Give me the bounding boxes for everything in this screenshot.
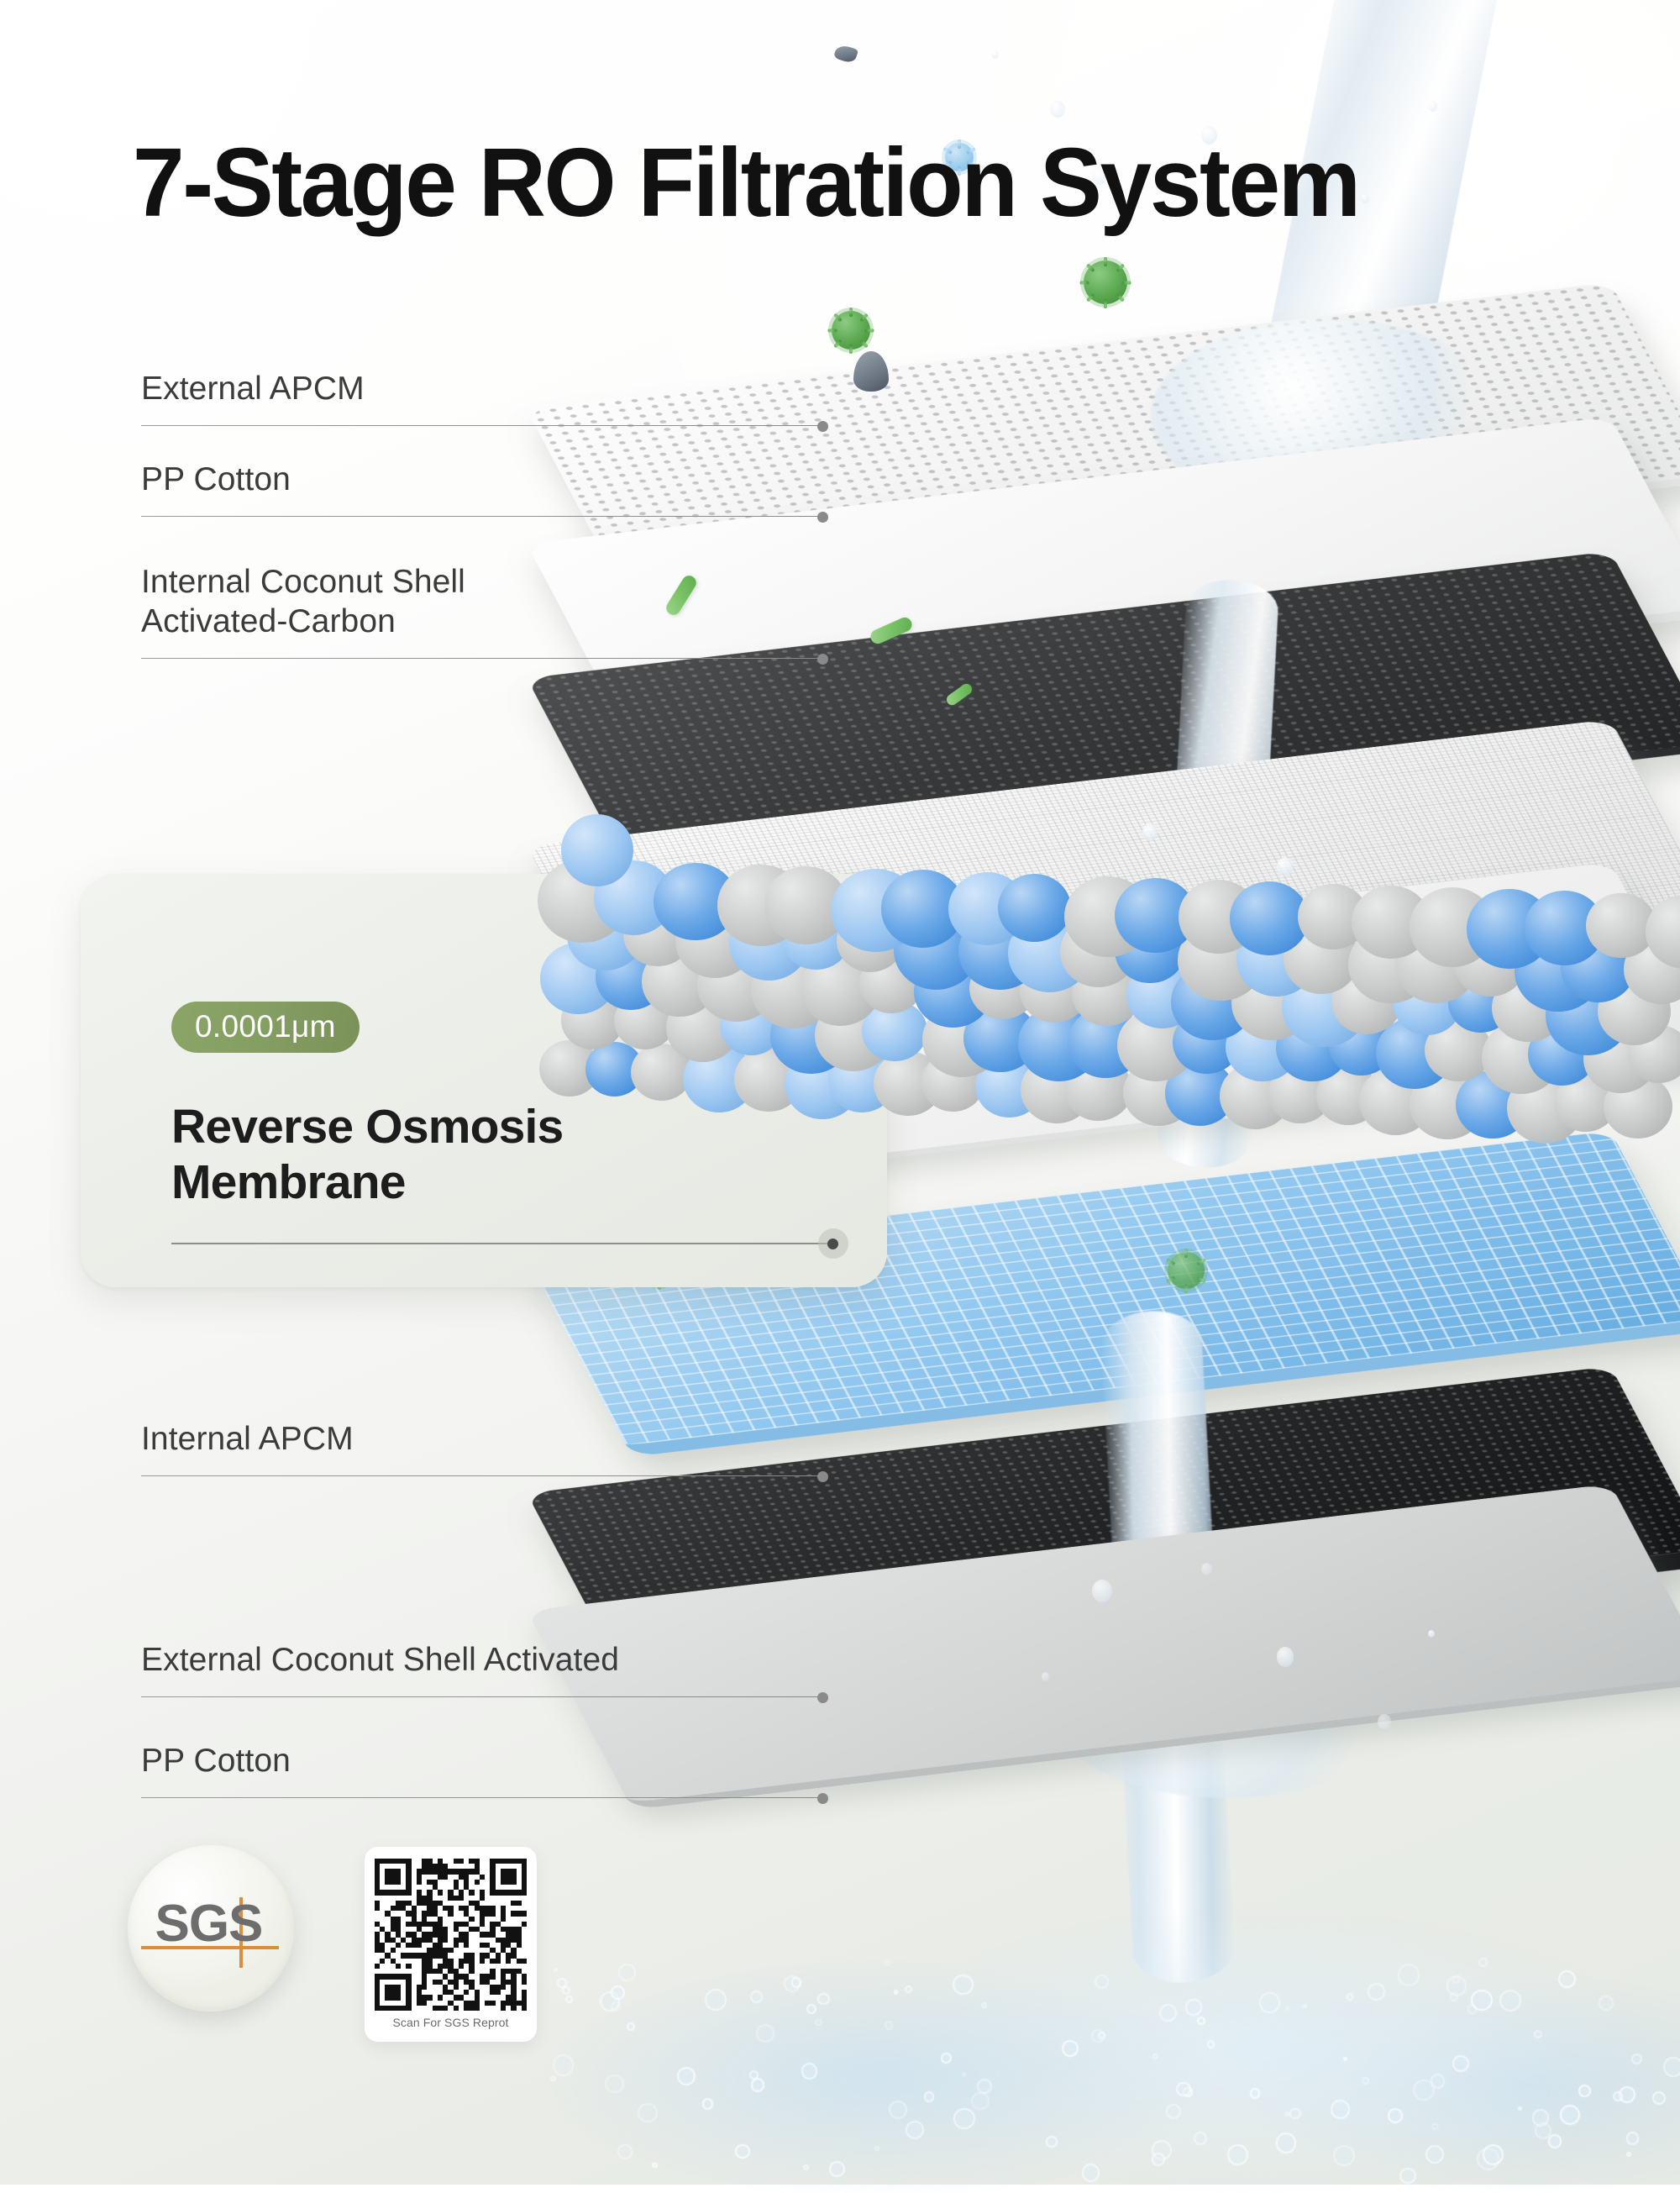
water-bubble-icon xyxy=(953,1975,974,1996)
water-bubble-icon xyxy=(652,2163,658,2169)
label-text: PP Cotton xyxy=(141,1742,823,1781)
water-bubble-icon xyxy=(1276,2133,1296,2153)
water-droplet-icon xyxy=(1092,1580,1112,1602)
water-bubble-icon xyxy=(1207,2040,1215,2048)
water-bubble-icon xyxy=(1413,2080,1434,2101)
water-bubble-icon xyxy=(1331,2100,1350,2119)
water-bubble-icon xyxy=(1176,2082,1191,2097)
water-bubble-icon xyxy=(1663,2057,1680,2077)
water-bubble-icon xyxy=(1398,1964,1420,1985)
water-bubble-icon xyxy=(611,2001,621,2012)
water-bubble-icon xyxy=(1166,2104,1181,2119)
water-droplet-icon xyxy=(1277,1647,1294,1667)
leader-line xyxy=(141,421,823,431)
water-bubble-icon xyxy=(750,1991,763,2003)
water-bubble-icon xyxy=(638,2103,658,2123)
water-bubble-icon xyxy=(874,2146,879,2151)
water-bubble-icon xyxy=(1343,2057,1347,2061)
water-splash-bottom xyxy=(521,1907,1680,2193)
virus-icon xyxy=(832,311,870,350)
water-bubble-icon xyxy=(1303,2004,1307,2008)
water-bubble-icon xyxy=(756,2024,774,2042)
water-bubble-icon xyxy=(1259,1992,1280,2013)
pore-size-badge: 0.0001μm xyxy=(171,1002,360,1053)
label-pp-cotton-top: PP Cotton xyxy=(141,460,823,522)
water-bubble-icon xyxy=(1499,1990,1521,2012)
water-bubble-icon xyxy=(1159,2004,1177,2022)
water-bubble-icon xyxy=(803,2164,809,2170)
water-bubble-icon xyxy=(1284,2111,1289,2117)
water-bubble-icon xyxy=(1548,2134,1562,2148)
leader-dot-icon xyxy=(827,1238,838,1249)
water-bubble-icon xyxy=(1152,2054,1158,2059)
water-droplet-icon xyxy=(1378,1714,1391,1729)
water-bubble-icon xyxy=(1285,2006,1289,2011)
water-droplet-icon xyxy=(1042,1672,1049,1681)
water-bubble-icon xyxy=(885,2021,893,2029)
water-bubble-icon xyxy=(1631,2054,1642,2064)
leader-line xyxy=(141,1692,823,1702)
water-bubble-icon xyxy=(1483,2144,1504,2166)
label-text: PP Cotton xyxy=(141,460,823,500)
water-droplet-icon xyxy=(1201,1563,1212,1575)
water-bubble-icon xyxy=(617,2144,633,2159)
water-bubble-icon xyxy=(1534,2030,1542,2038)
water-bubble-icon xyxy=(962,2072,966,2076)
label-internal-apcm: Internal APCM xyxy=(141,1420,823,1481)
water-bubble-icon xyxy=(1578,2085,1591,2097)
water-bubble-icon xyxy=(1362,2077,1369,2085)
leader-line xyxy=(141,1471,823,1481)
water-bubble-icon xyxy=(1194,2132,1207,2145)
water-bubble-icon xyxy=(1289,2108,1301,2120)
leader-dot-icon xyxy=(817,1471,828,1482)
water-bubble-icon xyxy=(702,2098,713,2109)
water-bubble-icon xyxy=(1558,1970,1576,1988)
water-bubble-icon xyxy=(806,2004,816,2014)
water-bubble-icon xyxy=(1388,2108,1403,2123)
water-bubble-icon xyxy=(1518,2106,1522,2111)
sgs-logo-text: SGS xyxy=(155,1898,262,1950)
water-bubble-icon xyxy=(1425,2145,1444,2164)
water-bubble-icon xyxy=(791,1977,801,1987)
qr-caption: Scan For SGS Reprot xyxy=(375,2016,527,2029)
water-bubble-icon xyxy=(1450,1992,1459,2001)
virus-icon xyxy=(1084,260,1127,304)
water-bubble-icon xyxy=(815,2019,822,2026)
label-text: External APCM xyxy=(141,370,823,409)
water-bubble-icon xyxy=(1399,2168,1415,2184)
water-bubble-icon xyxy=(553,2054,575,2076)
water-bubble-icon xyxy=(565,1996,573,2003)
water-bubble-icon xyxy=(677,2067,696,2085)
water-bubble-icon xyxy=(1626,2132,1639,2144)
water-bubble-icon xyxy=(749,2070,759,2080)
water-bubble-icon xyxy=(1333,2145,1355,2167)
label-text: External Coconut Shell Activated xyxy=(141,1641,823,1680)
water-bubble-icon xyxy=(1478,1958,1487,1966)
water-bubble-icon xyxy=(1626,2152,1631,2157)
water-bubble-icon xyxy=(1347,1993,1354,2001)
water-droplet-icon xyxy=(1428,101,1437,112)
leader-dot-icon xyxy=(817,421,828,432)
water-bubble-icon xyxy=(1062,2040,1079,2057)
water-bubble-icon xyxy=(1599,1996,1614,2011)
water-bubble-icon xyxy=(1368,1983,1385,2001)
water-droplet-icon xyxy=(1394,941,1414,963)
water-bubble-icon xyxy=(705,1989,727,2011)
water-bubble-icon xyxy=(941,2053,953,2064)
water-bubble-icon xyxy=(1095,1975,1109,1989)
water-bubble-icon xyxy=(953,2108,974,2129)
highlight-card-title: Reverse Osmosis Membrane xyxy=(171,1099,810,1210)
leader-line xyxy=(141,1793,823,1803)
water-bubble-icon xyxy=(1471,1990,1493,2012)
water-bubble-icon xyxy=(905,1985,912,1993)
label-internal-coconut-carbon: Internal Coconut Shell Activated-Carbon xyxy=(141,563,823,664)
water-bubble-icon xyxy=(735,2144,749,2159)
label-text: Internal APCM xyxy=(141,1420,823,1459)
label-text: Internal Coconut Shell Activated-Carbon xyxy=(141,563,823,642)
leader-line-highlight xyxy=(171,1233,837,1254)
water-bubble-icon xyxy=(1227,2144,1248,2165)
water-bubble-icon xyxy=(751,2078,764,2091)
leader-dot-icon xyxy=(817,1793,828,1804)
water-bubble-icon xyxy=(906,2121,924,2139)
leader-dot-icon xyxy=(817,654,828,665)
leader-dot-icon xyxy=(817,1692,828,1703)
water-bubble-icon xyxy=(605,2075,623,2093)
water-bubble-icon xyxy=(1431,2123,1438,2130)
water-bubble-icon xyxy=(1046,2136,1058,2148)
water-bubble-icon xyxy=(817,1993,829,2005)
leader-line xyxy=(141,512,823,522)
water-bubble-icon xyxy=(554,1968,559,1973)
water-bubble-icon xyxy=(1082,2164,1100,2182)
water-bubble-icon xyxy=(618,1964,636,1981)
water-bubble-icon xyxy=(1652,2091,1666,2105)
page-title: 7-Stage RO Filtration System xyxy=(133,126,1359,239)
water-bubble-icon xyxy=(550,2076,556,2082)
water-bubble-icon xyxy=(1185,1999,1201,2015)
highlight-card-reverse-osmosis[interactable]: 0.0001μm Reverse Osmosis Membrane xyxy=(81,874,887,1287)
label-external-apcm: External APCM xyxy=(141,370,823,431)
water-bubble-icon xyxy=(894,1990,899,1995)
water-bubble-icon xyxy=(981,2002,987,2008)
sgs-seal-icon: SGS xyxy=(128,1845,294,2012)
water-bubble-icon xyxy=(1197,2017,1205,2025)
water-bubble-icon xyxy=(829,2161,845,2177)
leader-line xyxy=(141,654,823,664)
water-bubble-icon xyxy=(884,1959,890,1966)
water-bubble-icon xyxy=(562,1986,570,1995)
water-bubble-icon xyxy=(971,2092,989,2110)
leader-dot-icon xyxy=(817,512,828,523)
water-bubble-icon xyxy=(1250,2088,1260,2098)
water-bubble-icon xyxy=(1452,2055,1469,2072)
water-bubble-icon xyxy=(889,2101,907,2119)
water-droplet-icon xyxy=(991,50,999,59)
qr-code-card[interactable]: Scan For SGS Reprot xyxy=(365,1847,537,2042)
water-bubble-icon xyxy=(627,2022,635,2031)
water-bubble-icon xyxy=(1560,2105,1580,2125)
filter-layer-illustration xyxy=(840,0,1680,2185)
water-bubble-icon xyxy=(924,2091,935,2102)
water-bubble-icon xyxy=(611,1985,625,2000)
label-pp-cotton-bottom: PP Cotton xyxy=(141,1742,823,1803)
water-bubble-icon xyxy=(1152,2153,1165,2166)
water-bubble-icon xyxy=(801,2063,818,2080)
water-droplet-icon xyxy=(1050,101,1065,118)
virus-icon xyxy=(1168,1252,1205,1289)
qr-code-icon xyxy=(375,1859,527,2011)
label-external-coconut-activated: External Coconut Shell Activated xyxy=(141,1641,823,1702)
